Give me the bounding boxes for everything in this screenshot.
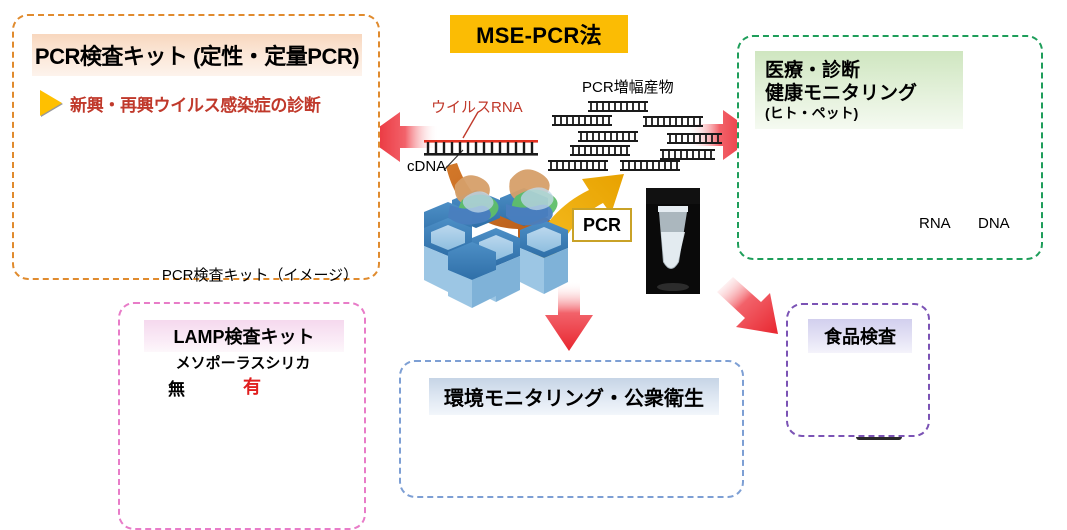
pcr-product-ladders-icon: [548, 101, 722, 171]
pcr-kit-bullet-row: 新興・再興ウイルス感染症の診断: [40, 90, 321, 116]
pcr-kit-caption: PCR検査キット（イメージ）: [144, 264, 376, 285]
panel-lamp-kit: LAMP検査キット: [118, 302, 366, 530]
label-cdna: cDNA: [407, 158, 446, 175]
arrow-down-red: [545, 282, 593, 351]
panel-lamp-header: LAMP検査キット: [144, 320, 344, 352]
label-pcr-product: PCR増幅産物: [582, 76, 674, 97]
pcr-tube-photo: [646, 188, 700, 294]
arrow-diagonal-red: [717, 277, 778, 334]
label-without-silica: 無: [168, 375, 185, 400]
panel-environment-monitoring: 環境モニタリング・公衆衛生: [399, 360, 744, 498]
panel-medical-header-line1: 医療・診断: [765, 60, 953, 82]
panel-medical-header: 医療・診断 健康モニタリング (ヒト・ペット): [755, 51, 963, 129]
label-mesoporous-silica: メソポーラスシリカ: [148, 352, 338, 373]
label-virus-rna: ウイルスRNA: [431, 96, 523, 117]
label-pcr-box: PCR: [572, 208, 632, 242]
panel-medical-header-line2: 健康モニタリング: [765, 83, 953, 105]
label-rna: RNA: [919, 215, 951, 232]
label-dna: DNA: [978, 215, 1010, 232]
panel-environment-header: 環境モニタリング・公衆衛生: [429, 378, 719, 415]
panel-pcr-kit-header: PCR検査キット (定性・定量PCR): [32, 34, 362, 76]
label-with-silica: 有: [243, 373, 261, 399]
panel-food-header: 食品検査: [808, 319, 912, 353]
mesoporous-silica-icon: [424, 169, 568, 308]
panel-pcr-kit: PCR検査キット (定性・定量PCR) 新興・再興ウイルス感染症の診断 PCR検…: [12, 14, 380, 280]
triangle-bullet-icon: [40, 90, 62, 116]
panel-medical-header-sub: (ヒト・ペット): [765, 105, 953, 122]
arrow-curve-orange: [446, 163, 553, 243]
pcr-kit-bullet-text: 新興・再興ウイルス感染症の診断: [70, 91, 321, 116]
panel-food-inspection: 食品検査: [786, 303, 930, 437]
main-title-mse-pcr: MSE-PCR法: [450, 15, 628, 53]
